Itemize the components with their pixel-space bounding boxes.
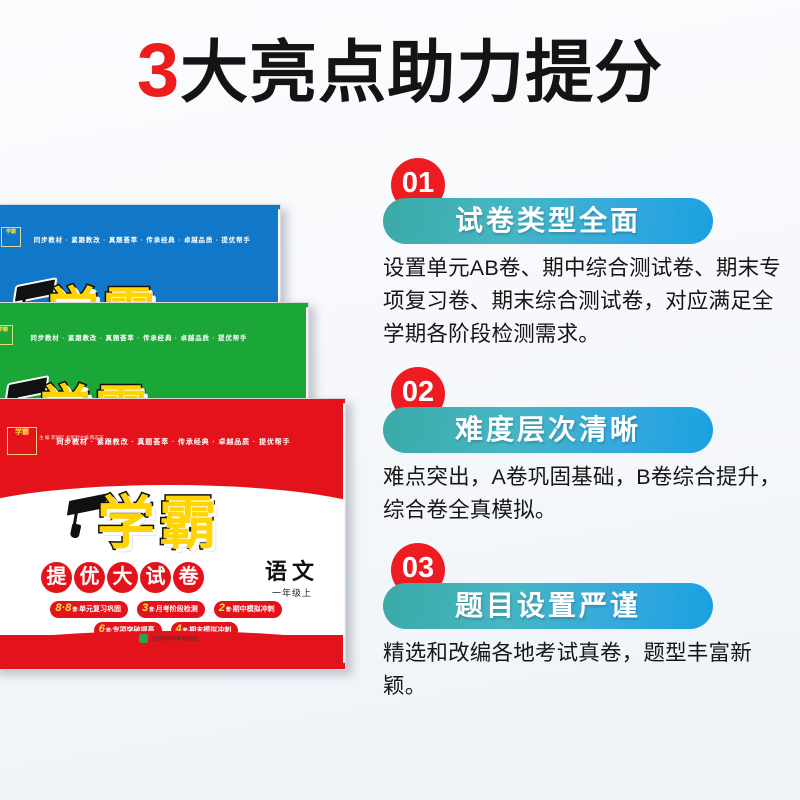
subject-name: 语文 [265, 559, 319, 584]
feature-title-pill: 试卷类型全面 [383, 198, 713, 244]
series-char: 提 [41, 562, 72, 593]
publisher-logo-icon [139, 634, 148, 643]
subject-grade: 一年级上 [265, 586, 319, 599]
book-cover-red: 学霸 主 编 李丽红 总策划主编 陶志军 同步教材 · 紧跟教改 · 真题荟萃 … [0, 398, 346, 670]
series-char: 大 [107, 562, 138, 593]
publisher-seal-icon: 学霸 [1, 227, 21, 247]
book-page-edge [343, 403, 346, 663]
publisher-seal-icon: 学霸 [0, 325, 13, 345]
series-char: 优 [74, 562, 105, 593]
tag-unit: 套· [72, 607, 79, 613]
feature-item-01: 01 试卷类型全面 设置单元AB卷、期中综合测试卷、期末专项复习卷、期末综合测试… [383, 158, 783, 351]
feature-item-02: 02 难度层次清晰 难点突出，A卷巩固基础，B卷综合提升，综合卷全真模拟。 [383, 367, 783, 527]
content-tag: 2套·期中模拟冲刺 [214, 601, 282, 618]
content-tag: 3套·月考阶段检测 [137, 601, 205, 618]
series-char: 试 [140, 562, 171, 593]
book-red-band: 学霸 主 编 李丽红 总策划主编 陶志军 同步教材 · 紧跟教改 · 真题荟萃 … [0, 399, 345, 669]
book-stack-image: 学霸 同步教材 · 紧跟教改 · 真题荟萃 · 传承经典 · 卓越品质 · 提优… [0, 190, 368, 680]
feature-title-pill: 题目设置严谨 [383, 583, 713, 629]
publisher-name: 江苏凤凰科学技术出版社 [151, 636, 199, 641]
tag-label: 单元复习巩固 [79, 606, 121, 613]
publisher-mark: 江苏凤凰科学技术出版社 [139, 634, 199, 643]
tag-unit: 套· [149, 607, 156, 613]
content-tag: 8·8套·单元复习巩固 [50, 601, 128, 618]
tag-label: 月考阶段检测 [156, 606, 198, 613]
book-blue-tagline: 同步教材 · 紧跟教改 · 真题荟萃 · 传承经典 · 卓越品质 · 提优帮手 [34, 235, 251, 244]
book-red-tagline: 同步教材 · 紧跟教改 · 真题荟萃 · 传承经典 · 卓越品质 · 提优帮手 [56, 437, 290, 447]
feature-list: 01 试卷类型全面 设置单元AB卷、期中综合测试卷、期末专项复习卷、期末综合测试… [383, 158, 783, 719]
feature-item-03: 03 题目设置严谨 精选和改编各地考试真卷，题型丰富新颖。 [383, 543, 783, 703]
headline-text: 大亮点助力提分 [180, 35, 663, 111]
feature-body-text: 设置单元AB卷、期中综合测试卷、期末专项复习卷、期末综合测试卷，对应满足全学期各… [383, 252, 783, 351]
series-title-circles: 提 优 大 试 卷 [41, 562, 204, 593]
tag-unit: 套· [226, 607, 233, 613]
book-red-brand: 学霸 [97, 491, 221, 557]
headline-number: 3 [137, 28, 180, 113]
book-green-tagline: 同步教材 · 紧跟教改 · 真题荟萃 · 传承经典 · 卓越品质 · 提优帮手 [30, 333, 247, 342]
page-title: 3大亮点助力提分 [0, 28, 800, 116]
tag-label: 期中模拟冲刺 [233, 606, 275, 613]
tag-row-1: 8·8套·单元复习巩固 3套·月考阶段检测 2套·期中模拟冲刺 [11, 601, 321, 618]
tag-qty: 2 [219, 602, 226, 614]
publisher-seal-icon: 学霸 [7, 427, 37, 455]
feature-title-pill: 难度层次清晰 [383, 407, 713, 453]
tag-qty: 8·8 [55, 602, 72, 614]
series-char: 卷 [173, 562, 204, 593]
subject-block: 语文 一年级上 [265, 559, 319, 599]
feature-body-text: 精选和改编各地考试真卷，题型丰富新颖。 [383, 637, 783, 703]
feature-body-text: 难点突出，A卷巩固基础，B卷综合提升，综合卷全真模拟。 [383, 461, 783, 527]
